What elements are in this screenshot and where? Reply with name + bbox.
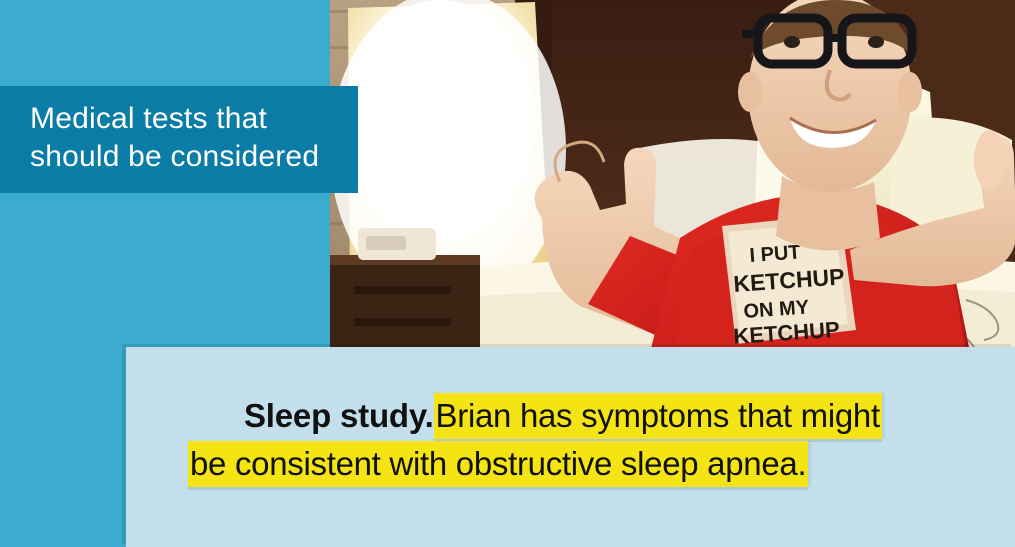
sleep-study-highlight-line-1: Brian has symptoms that might bbox=[434, 393, 882, 439]
section-title-line-1: Medical tests that bbox=[30, 100, 358, 138]
sleep-study-lead-label: Sleep study. bbox=[244, 397, 434, 434]
section-title-line-2: should be considered bbox=[30, 138, 358, 176]
sleep-study-line-1: Sleep study.Brian has symptoms that migh… bbox=[244, 392, 1004, 440]
svg-text:I PUT: I PUT bbox=[749, 241, 802, 267]
slide-canvas: I PUT KETCHUP ON MY KETCHUP bbox=[0, 0, 1015, 547]
sleep-study-line-2: be consistent with obstructive sleep apn… bbox=[188, 440, 1004, 488]
sleep-study-card: Sleep study.Brian has symptoms that migh… bbox=[126, 347, 1015, 547]
sleep-study-text: Sleep study.Brian has symptoms that migh… bbox=[244, 392, 1004, 488]
sleep-study-card-body: Sleep study.Brian has symptoms that migh… bbox=[126, 347, 1015, 547]
photo-sleep-study: I PUT KETCHUP ON MY KETCHUP bbox=[330, 0, 1015, 352]
photo-illustration: I PUT KETCHUP ON MY KETCHUP bbox=[330, 0, 1015, 352]
sleep-study-highlight-line-2: be consistent with obstructive sleep apn… bbox=[188, 441, 808, 487]
section-title-banner: Medical tests that should be considered bbox=[0, 86, 358, 193]
